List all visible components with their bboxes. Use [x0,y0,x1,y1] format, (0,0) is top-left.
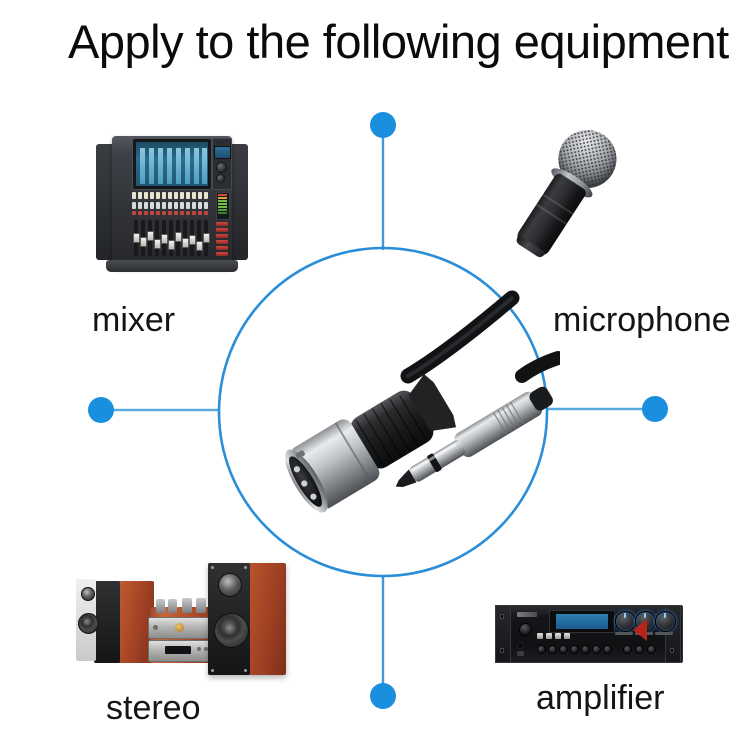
equipment-image-microphone [505,128,660,273]
equipment-image-stereo [72,545,288,680]
mixer-screen [132,138,212,190]
amplifier-button-1 [537,633,543,639]
amplifier-input-jack-1 [517,642,524,649]
stereo-cd-display [165,646,191,654]
stereo-cd-player-unit [148,640,216,662]
stereo-amp-badge [175,623,184,632]
mixer-button-row-1 [132,192,210,200]
node-dot-top[interactable] [370,112,396,138]
mixer-base [106,260,238,272]
mixer-body [112,136,232,268]
stereo-transformer-2 [196,598,206,613]
equipment-label-mixer: mixer [92,300,175,340]
equipment-label-stereo: stereo [106,688,201,728]
node-dot-right[interactable] [642,396,668,422]
stereo-woofer-left-dustcap [84,619,91,626]
node-dot-left[interactable] [88,397,114,423]
mixer-lcd-readout [214,146,231,159]
stereo-vacuum-tube-1 [156,599,165,613]
equipment-label-amplifier: amplifier [536,678,664,718]
equipment-label-microphone: microphone [553,300,731,340]
product-image-audio-cable [240,280,560,520]
mixer-button-row-2 [132,202,210,210]
mixer-knob-small [216,174,225,183]
stereo-amplifier-unit [148,617,216,639]
node-dot-bottom[interactable] [370,683,396,709]
stereo-tweeter-right [218,573,242,597]
stereo-tweeter-left [81,587,95,601]
amplifier-brand-logo [517,612,537,617]
infographic-page: Apply to the following equipment [0,0,750,750]
amplifier-front-panel [511,609,663,657]
amplifier-usb-port [517,651,524,656]
mixer-knob [216,162,227,173]
mixer-red-button-column [216,222,229,258]
mixer-button-row-3 [132,211,210,216]
amplifier-knob-master [655,611,676,632]
microphone-assembly [478,97,687,303]
equipment-image-mixer [96,130,248,275]
mixer-screen-display [136,142,208,186]
amplifier-button-4 [564,633,570,639]
amplifier-button-3 [555,633,561,639]
stereo-vacuum-tube-2 [168,599,177,613]
stereo-woofer-right-dustcap [225,624,236,635]
cable-ts-branch [522,358,558,376]
stereo-transformer-1 [182,598,192,613]
mixer-level-meter [216,192,230,220]
stereo-amp-knob [153,625,158,630]
xlr-male-connector [278,368,463,518]
equipment-image-amplifier [495,597,681,669]
amplifier-lcd-display [555,613,609,630]
mixer-fader-bank [132,220,214,260]
amplifier-rack-ear-left [495,605,511,663]
amplifier-red-accent [633,619,647,641]
amplifier-button-2 [546,633,552,639]
amplifier-master-knob [519,623,532,636]
